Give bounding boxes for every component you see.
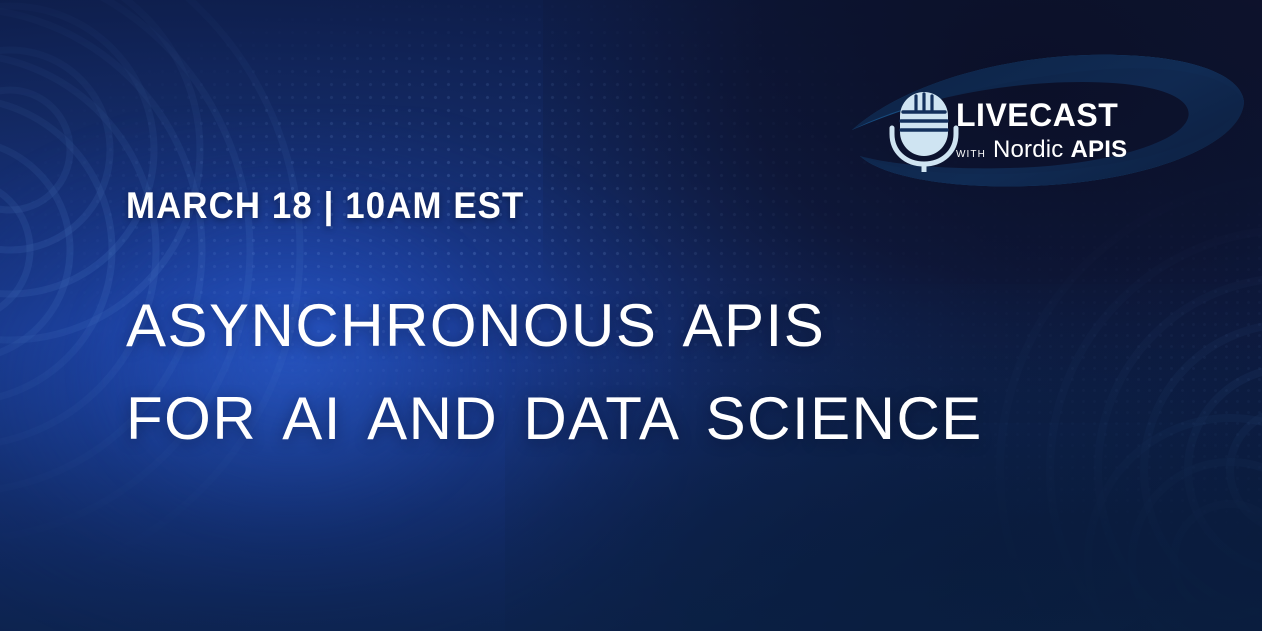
event-copy-block: MARCH 18 | 10AM EST Asynchronous APIs fo… (126, 185, 1106, 454)
nordic-label: Nordic (993, 136, 1064, 164)
webinar-promo-banner: LiveCast with NordicAPIS MARCH 18 | 10AM… (0, 0, 1262, 631)
logo-brand-line: with NordicAPIS (956, 136, 1246, 164)
with-label: with (956, 144, 986, 160)
event-date-time: MARCH 18 | 10AM EST (126, 185, 1047, 227)
title-line-2: for AI and Data Science (126, 368, 1106, 455)
title-line-1: Asynchronous APIs (126, 275, 1106, 362)
page-title: Asynchronous APIs for AI and Data Scienc… (126, 275, 1106, 454)
livecast-wordmark: LiveCast (956, 88, 1246, 132)
logo-wordmark-block: LiveCast with NordicAPIS (956, 88, 1246, 164)
livecast-logo[interactable]: LiveCast with NordicAPIS (838, 46, 1248, 196)
apis-label: APIS (1071, 136, 1128, 164)
microphone-icon (886, 84, 962, 172)
